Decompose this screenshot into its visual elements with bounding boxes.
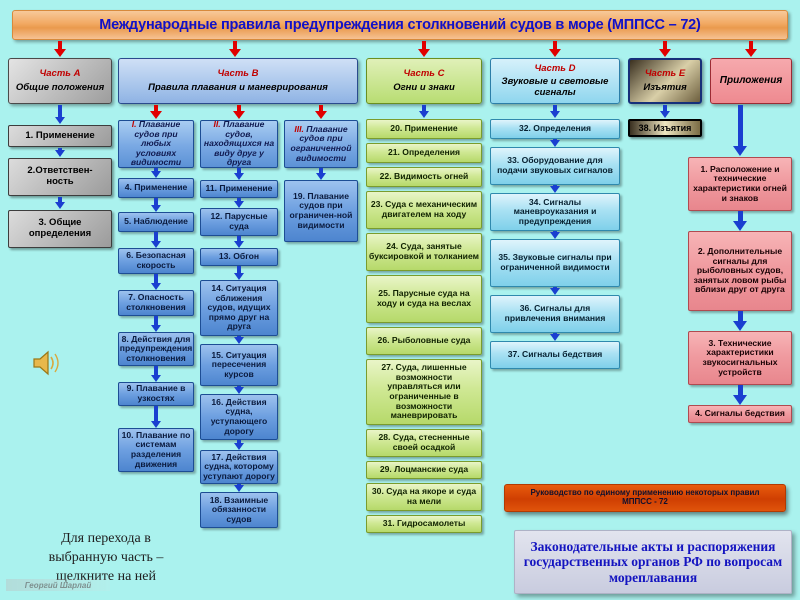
node-b-section-1-label: I. Плавание судов при любых условиях вид… xyxy=(119,120,193,168)
node-rule-8[interactable]: 8. Действия для предупреждения столкнове… xyxy=(118,332,194,366)
node-rule-32-label: 32. Определения xyxy=(517,124,593,134)
node-rule-36[interactable]: 36. Сигналы для привлечения внимания xyxy=(490,295,620,333)
node-rule-30[interactable]: 30. Суда на якоре и суда на мели xyxy=(366,483,482,511)
node-rule-30-label: 30. Суда на якоре и суда на мели xyxy=(367,487,481,506)
node-rule-35-label: 35. Звуковые сигналы при ограниченной ви… xyxy=(491,253,619,272)
part-c-tag: Часть С xyxy=(402,69,447,80)
node-rule-13-label: 13. Обгон xyxy=(217,252,261,262)
node-rule-11-label: 11. Применение xyxy=(204,184,275,194)
watermark: Георгий Шарлай xyxy=(6,575,110,595)
node-rule-26-label: 26. Рыболовные суда xyxy=(376,336,473,346)
page-title: Международные правила предупреждения сто… xyxy=(12,10,788,40)
node-appendix-4-label: 4. Сигналы бедствия xyxy=(693,409,787,419)
page-title-text: Международные правила предупреждения сто… xyxy=(97,17,702,33)
node-rule-25-label: 25. Парусные суда на ходу и суда на весл… xyxy=(367,289,481,308)
appendices-label: Приложения xyxy=(718,75,784,86)
node-rule-22-label: 22. Видимость огней xyxy=(378,172,471,182)
node-rule-7[interactable]: 7. Опасность столкновения xyxy=(118,290,194,316)
part-header-b[interactable]: Часть В Правила плавания и маневрировани… xyxy=(118,58,358,104)
node-rule-17[interactable]: 17. Действия судна, которому уступают до… xyxy=(200,450,278,484)
node-rule-28-label: 28. Суда, стесненные своей осадкой xyxy=(367,433,481,452)
node-b-section-3[interactable]: III. Плавание судов при ограниченной вид… xyxy=(284,120,358,168)
node-rule-9[interactable]: 9. Плавание в узкостях xyxy=(118,382,194,406)
node-b-section-1[interactable]: I. Плавание судов при любых условиях вид… xyxy=(118,120,194,168)
node-rule-36-label: 36. Сигналы для привлечения внимания xyxy=(491,304,619,323)
node-rule-19[interactable]: 19. Плавание судов при ограничен-ной вид… xyxy=(284,180,358,242)
part-header-e[interactable]: Часть Е Изъятия xyxy=(628,58,702,104)
laws-box-text: Законодательные акты и распоряжения госу… xyxy=(515,539,791,584)
node-rule-13[interactable]: 13. Обгон xyxy=(200,248,278,266)
node-rule-34-label: 34. Сигналы маневроуказания и предупрежд… xyxy=(491,198,619,227)
node-rule-27-label: 27. Суда, лишенные возможности управлять… xyxy=(367,363,481,421)
flowchart-canvas: Международные правила предупреждения сто… xyxy=(0,0,800,600)
node-rule-29[interactable]: 29. Лоцманские суда xyxy=(366,461,482,479)
node-rule-33-label: 33. Оборудование для подачи звуковых сиг… xyxy=(491,156,619,175)
node-rule-22[interactable]: 22. Видимость огней xyxy=(366,167,482,187)
node-rule-26[interactable]: 26. Рыболовные суда xyxy=(366,327,482,355)
node-rule-16-label: 16. Действия судна, уступающего дорогу xyxy=(201,398,277,437)
node-appendix-1-label: 1. Расположение и технические характерис… xyxy=(689,165,791,204)
node-rule-10-label: 10. Плавание по системам разделения движ… xyxy=(119,431,193,470)
node-rule-14-label: 14. Ситуация сближения судов, идущих пря… xyxy=(201,284,277,332)
node-part-a-3-label: 3. Общие определения xyxy=(27,218,93,239)
node-rule-8-label: 8. Действия для предупреждения столкнове… xyxy=(118,335,194,364)
node-appendix-4[interactable]: 4. Сигналы бедствия xyxy=(688,405,792,423)
node-rule-32[interactable]: 32. Определения xyxy=(490,119,620,139)
guide-box-text: Руководство по единому применению некото… xyxy=(528,489,761,507)
speaker-icon[interactable] xyxy=(30,348,64,378)
node-rule-18[interactable]: 18. Взаимные обязанности судов xyxy=(200,492,278,528)
node-rule-12-label: 12. Парусные суда xyxy=(201,212,277,231)
node-rule-6-label: 6. Безопасная скорость xyxy=(119,251,193,270)
node-rule-18-label: 18. Взаимные обязанности судов xyxy=(201,496,277,525)
part-e-tag: Часть Е xyxy=(643,69,687,80)
node-rule-28[interactable]: 28. Суда, стесненные своей осадкой xyxy=(366,429,482,457)
part-a-tag: Часть А xyxy=(38,69,83,80)
node-rule-21[interactable]: 21. Определения xyxy=(366,143,482,163)
node-part-a-2-label: 2.Ответствен- ность xyxy=(25,166,94,187)
part-d-tag: Часть D xyxy=(533,64,578,75)
node-rule-19-label: 19. Плавание судов при ограничен-ной вид… xyxy=(285,192,357,231)
node-rule-4-label: 4. Применение xyxy=(123,183,190,193)
node-rule-24[interactable]: 24. Суда, занятые буксировкой и толкание… xyxy=(366,233,482,271)
node-rule-9-label: 9. Плавание в узкостях xyxy=(119,384,193,403)
node-rule-31-label: 31. Гидросамолеты xyxy=(381,519,468,529)
part-header-appendices[interactable]: Приложения xyxy=(710,58,792,104)
node-rule-16[interactable]: 16. Действия судна, уступающего дорогу xyxy=(200,394,278,440)
node-rule-14[interactable]: 14. Ситуация сближения судов, идущих пря… xyxy=(200,280,278,336)
part-b-tag: Часть В xyxy=(216,69,261,80)
node-rule-20[interactable]: 20. Применение xyxy=(366,119,482,139)
node-rule-23[interactable]: 23. Суда с механическим двигателем на хо… xyxy=(366,191,482,229)
node-rule-20-label: 20. Применение xyxy=(388,124,459,134)
part-header-d[interactable]: Часть D Звуковые и световые сигналы xyxy=(490,58,620,104)
node-rule-33[interactable]: 33. Оборудование для подачи звуковых сиг… xyxy=(490,147,620,185)
part-b-desc: Правила плавания и маневрирования xyxy=(146,83,330,94)
node-rule-27[interactable]: 27. Суда, лишенные возможности управлять… xyxy=(366,359,482,425)
node-rule-17-label: 17. Действия судна, которому уступают до… xyxy=(201,453,277,482)
node-rule-34[interactable]: 34. Сигналы маневроуказания и предупрежд… xyxy=(490,193,620,231)
guide-box[interactable]: Руководство по единому применению некото… xyxy=(504,484,786,512)
node-rule-6[interactable]: 6. Безопасная скорость xyxy=(118,248,194,274)
laws-box[interactable]: Законодательные акты и распоряжения госу… xyxy=(514,530,792,594)
part-header-a[interactable]: Часть А Общие положения xyxy=(8,58,112,104)
node-rule-10[interactable]: 10. Плавание по системам разделения движ… xyxy=(118,428,194,472)
node-rule-29-label: 29. Лоцманские суда xyxy=(378,465,470,475)
node-part-a-3[interactable]: 3. Общие определения xyxy=(8,210,112,248)
node-rule-38[interactable]: 38. Изъятия xyxy=(628,119,702,137)
node-rule-15[interactable]: 15. Ситуация пересечения курсов xyxy=(200,344,278,386)
node-b-section-3-label: III. Плавание судов при ограниченной вид… xyxy=(285,125,357,164)
node-appendix-1[interactable]: 1. Расположение и технические характерис… xyxy=(688,157,792,211)
part-d-desc: Звуковые и световые сигналы xyxy=(494,77,616,98)
node-rule-23-label: 23. Суда с механическим двигателем на хо… xyxy=(367,200,481,219)
part-header-c[interactable]: Часть С Огни и знаки xyxy=(366,58,482,104)
node-rule-37[interactable]: 37. Сигналы бедствия xyxy=(490,341,620,369)
node-rule-15-label: 15. Ситуация пересечения курсов xyxy=(201,351,277,380)
node-rule-37-label: 37. Сигналы бедствия xyxy=(506,350,605,360)
node-rule-21-label: 21. Определения xyxy=(386,148,462,158)
node-rule-5-label: 5. Наблюдение xyxy=(122,217,190,227)
node-rule-7-label: 7. Опасность столкновения xyxy=(119,293,193,312)
node-rule-31[interactable]: 31. Гидросамолеты xyxy=(366,515,482,533)
node-rule-4[interactable]: 4. Применение xyxy=(118,178,194,198)
node-part-a-2[interactable]: 2.Ответствен- ность xyxy=(8,158,112,196)
part-c-desc: Огни и знаки xyxy=(391,83,457,94)
node-rule-5[interactable]: 5. Наблюдение xyxy=(118,212,194,232)
node-part-a-1[interactable]: 1. Применение xyxy=(8,125,112,147)
part-a-desc: Общие положения xyxy=(14,83,106,94)
node-b-section-2[interactable]: II. Плавание судов, находящихся на виду … xyxy=(200,120,278,168)
node-part-a-1-label: 1. Применение xyxy=(23,131,96,142)
node-rule-25[interactable]: 25. Парусные суда на ходу и суда на весл… xyxy=(366,275,482,323)
node-appendix-2[interactable]: 2. Дополнительные сигналы для рыболовных… xyxy=(688,231,792,311)
node-b-section-2-label: II. Плавание судов, находящихся на виду … xyxy=(201,120,277,168)
node-rule-38-label: 38. Изъятия xyxy=(637,123,694,133)
node-appendix-2-label: 2. Дополнительные сигналы для рыболовных… xyxy=(689,247,791,295)
watermark-text: Георгий Шарлай xyxy=(25,581,91,590)
node-rule-35[interactable]: 35. Звуковые сигналы при ограниченной ви… xyxy=(490,239,620,287)
node-appendix-3-label: 3. Технические характеристики звукосигна… xyxy=(689,339,791,378)
node-rule-11[interactable]: 11. Применение xyxy=(200,180,278,198)
node-appendix-3[interactable]: 3. Технические характеристики звукосигна… xyxy=(688,331,792,385)
part-e-desc: Изъятия xyxy=(641,83,688,94)
node-rule-24-label: 24. Суда, занятые буксировкой и толкание… xyxy=(367,242,481,261)
node-rule-12[interactable]: 12. Парусные суда xyxy=(200,208,278,236)
